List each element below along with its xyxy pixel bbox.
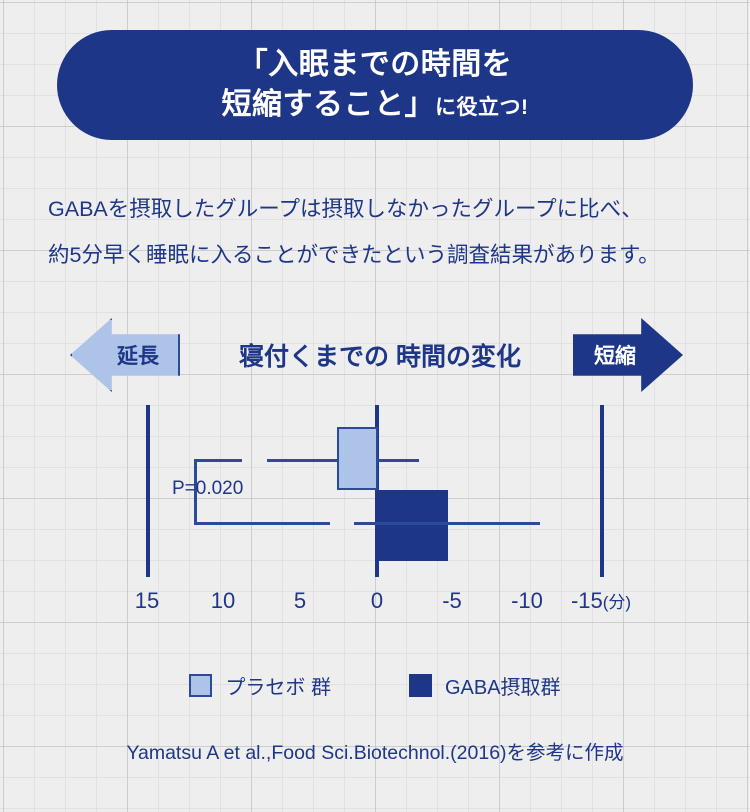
axis-tick-4: -5	[442, 588, 462, 614]
citation-text: Yamatsu A et al.,Food Sci.Biotechnol.(20…	[0, 736, 750, 765]
axis-tick-6-value: -15	[571, 588, 603, 613]
error-bar-gaba	[354, 522, 540, 525]
header-banner: 「入眠までの時間を 短縮すること」に役立つ!	[57, 30, 693, 140]
chart-plot-area: P=0.020	[0, 396, 750, 586]
arrow-right-label: 短縮	[594, 340, 636, 370]
lead-line-2: 約5分早く睡眠に入ることができたという調査結果があります。	[48, 232, 718, 278]
axis-tick-2: 5	[294, 588, 306, 614]
banner-line-2-suffix: に役立つ!	[435, 96, 529, 119]
axis-bound-left	[146, 405, 150, 577]
direction-arrow-row: 延長 寝付くまでの 時間の変化 短縮	[0, 318, 750, 396]
bar-placebo	[337, 427, 378, 490]
axis-tick-3: 0	[371, 588, 383, 614]
legend-label-placebo: プラセボ 群	[225, 671, 331, 700]
arrow-left-label: 延長	[117, 340, 159, 370]
legend-swatch-placebo	[189, 674, 212, 697]
banner-line-2-main: 短縮すること」	[222, 88, 436, 121]
legend-swatch-gaba	[409, 674, 432, 697]
arrow-right-shorten-icon: 短縮	[573, 318, 683, 392]
pvalue-bracket-bottom	[194, 522, 330, 525]
pvalue-bracket-top	[194, 459, 242, 462]
axis-tick-5: -10	[511, 588, 543, 614]
banner-line-2: 短縮すること」に役立つ!	[222, 85, 529, 125]
chart-legend: プラセボ 群 GABA摂取群	[0, 668, 750, 702]
lead-line-1: GABAを摂取したグループは摂取しなかったグループに比べ、	[48, 186, 718, 232]
axis-tick-labels: 15 10 5 0 -5 -10 -15(分)	[0, 588, 750, 620]
pvalue-label: P=0.020	[172, 478, 243, 500]
banner-line-1: 「入眠までの時間を	[238, 45, 513, 85]
chart-title: 寝付くまでの 時間の変化	[205, 318, 555, 392]
axis-unit-label: (分)	[603, 593, 631, 612]
lead-paragraph: GABAを摂取したグループは摂取しなかったグループに比べ、 約5分早く睡眠に入る…	[48, 186, 718, 278]
axis-tick-0: 15	[135, 588, 159, 614]
legend-label-gaba: GABA摂取群	[445, 671, 561, 700]
legend-item-placebo: プラセボ 群	[189, 671, 331, 700]
bar-gaba	[377, 490, 448, 561]
legend-item-gaba: GABA摂取群	[409, 671, 561, 700]
axis-bound-right	[600, 405, 604, 577]
axis-tick-6: -15(分)	[571, 588, 631, 614]
axis-tick-1: 10	[211, 588, 235, 614]
arrow-left-extend-icon: 延長	[70, 318, 180, 392]
